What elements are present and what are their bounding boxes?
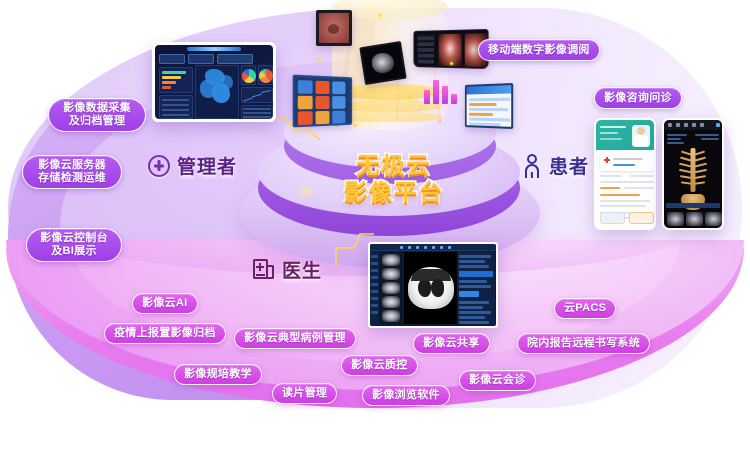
- pill-patient-mobile-imaging[interactable]: 移动端数字影像调阅: [478, 39, 600, 61]
- pill-admin-cloud-server[interactable]: 影像云服务器 存储检测运维: [22, 155, 122, 189]
- angio-sidebar: [416, 33, 436, 66]
- spine-3d-phone[interactable]: [662, 118, 724, 230]
- patient-consult-phone[interactable]: [594, 118, 656, 230]
- pill-admin-console-bi[interactable]: 影像云控制台 及BI展示: [26, 228, 122, 262]
- tower-band: [338, 112, 442, 122]
- pill-doctor-consultation[interactable]: 影像云会诊: [459, 370, 536, 391]
- endoscopy-panel: [316, 10, 352, 46]
- table-header: [467, 85, 512, 94]
- infographic-canvas: 无极云 影像平台 管理者 患者 医生 影像数据采集 及归档管理 影像云服务器 存…: [0, 0, 750, 450]
- pill-doctor-training[interactable]: 影像规培教学: [174, 364, 262, 385]
- bar-chart-panel: [422, 74, 458, 104]
- platform-title: 无极云 影像平台: [323, 152, 465, 206]
- role-admin-label: 管理者: [177, 152, 237, 179]
- pill-doctor-sharing[interactable]: 影像云共享: [413, 333, 490, 354]
- bi-dashboard-screen[interactable]: [152, 42, 276, 122]
- pill-admin-data-collection[interactable]: 影像数据采集 及归档管理: [48, 98, 146, 132]
- cross-circle-icon: [148, 155, 170, 177]
- role-doctor-label: 医生: [282, 256, 322, 283]
- person-icon: [522, 154, 542, 178]
- pill-doctor-reading-management[interactable]: 读片管理: [272, 383, 337, 404]
- ct-lung-slice: [408, 267, 454, 309]
- data-table-panel: [465, 83, 513, 129]
- title-line-2: 影像平台: [323, 179, 465, 206]
- pill-doctor-report-writing[interactable]: 院内报告远程书写系统: [517, 333, 650, 354]
- axial-thumb[interactable]: [667, 212, 684, 226]
- axial-thumb[interactable]: [705, 212, 722, 226]
- pill-patient-consult[interactable]: 影像咨询问诊: [594, 87, 682, 109]
- consult-primary-button[interactable]: [629, 212, 654, 224]
- consult-app-header: [596, 120, 654, 150]
- role-patient-label: 患者: [549, 152, 589, 179]
- pill-doctor-quality-control[interactable]: 影像云质控: [341, 355, 418, 376]
- viewer-toolbar[interactable]: [664, 120, 722, 130]
- pill-doctor-epidemic-archive[interactable]: 疫情上报置影像归档: [104, 323, 226, 344]
- ct-tool-rail[interactable]: [370, 251, 379, 326]
- dashboard-title-bar: [187, 47, 241, 51]
- title-line-1: 无极云: [323, 152, 465, 179]
- report-cross-icon: [253, 259, 275, 281]
- viewer-slider[interactable]: [666, 203, 720, 208]
- doctor-avatar-icon: [632, 125, 650, 147]
- podium-glow: [300, 188, 312, 195]
- pill-doctor-cloud-pacs[interactable]: 云PACS: [554, 298, 616, 319]
- role-doctor[interactable]: 医生: [253, 256, 322, 283]
- ct-toolbar[interactable]: [370, 244, 496, 251]
- pill-doctor-case-management[interactable]: 影像云典型病例管理: [234, 328, 356, 349]
- central-tower: [310, 0, 470, 150]
- consult-secondary-button[interactable]: [600, 212, 625, 224]
- ultrasound-panel: [359, 41, 406, 85]
- ct-series-thumbnails[interactable]: [380, 252, 402, 324]
- ct-body-wall: [411, 269, 451, 281]
- pill-doctor-viewer-software[interactable]: 影像浏览软件: [362, 385, 450, 406]
- ct-viewer-screen[interactable]: [368, 242, 498, 328]
- ct-info-panel: [457, 252, 495, 324]
- role-admin[interactable]: 管理者: [148, 152, 237, 179]
- dashboard-map: [197, 67, 239, 109]
- ct-main-image[interactable]: [404, 252, 458, 324]
- medical-cross-icon: [604, 157, 610, 163]
- pill-doctor-ai[interactable]: 影像云AI: [132, 293, 198, 314]
- role-patient[interactable]: 患者: [522, 152, 589, 179]
- axial-thumb[interactable]: [686, 212, 703, 226]
